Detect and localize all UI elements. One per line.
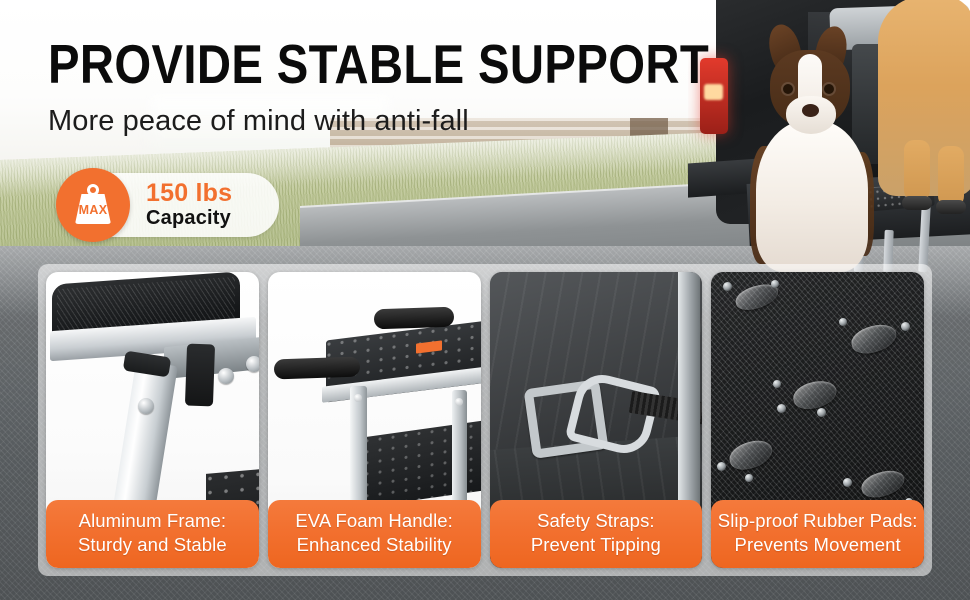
frame-rivet xyxy=(246,356,259,372)
panel-caption: EVA Foam Handle: Enhanced Stability xyxy=(268,500,481,568)
frame-rivet xyxy=(138,398,154,414)
caption-line-1: Slip-proof Rubber Pads: xyxy=(718,510,918,531)
caption-line-2: Prevent Tipping xyxy=(494,533,699,557)
caption-line-1: Safety Straps: xyxy=(537,510,655,531)
water-droplet xyxy=(849,321,900,357)
water-droplet xyxy=(859,467,907,501)
feature-panel-rubber-pads[interactable]: Slip-proof Rubber Pads: Prevents Movemen… xyxy=(711,272,924,568)
eva-foam-handle-front xyxy=(273,357,360,380)
page-subtitle: More peace of mind with anti-fall xyxy=(48,104,469,138)
panel-caption: Aluminum Frame: Sturdy and Stable xyxy=(46,500,259,568)
golden-retriever-leg xyxy=(938,146,964,208)
capacity-badge: MAX 150 lbs Capacity xyxy=(56,168,232,242)
capacity-label: Capacity xyxy=(146,206,232,230)
collie-eye-left xyxy=(783,84,793,94)
water-bead xyxy=(773,380,781,388)
capacity-value: 150 lbs xyxy=(146,180,232,206)
panel-caption: Slip-proof Rubber Pads: Prevents Movemen… xyxy=(711,500,924,568)
caption-line-2: Prevents Movement xyxy=(715,533,920,557)
product-feature-banner: PROVIDE STABLE SUPPORT More peace of min… xyxy=(0,0,970,600)
capacity-text-group: 150 lbs Capacity xyxy=(146,180,232,230)
water-bead xyxy=(777,404,786,413)
feature-panel-safety-straps[interactable]: Safety Straps: Prevent Tipping xyxy=(490,272,703,568)
weight-icon: MAX xyxy=(72,184,114,226)
water-droplet xyxy=(791,378,839,413)
water-bead xyxy=(723,282,732,291)
caption-line-1: EVA Foam Handle: xyxy=(295,510,453,531)
frame-rivet xyxy=(218,368,234,384)
golden-retriever-leg xyxy=(904,140,930,202)
water-bead xyxy=(839,318,847,326)
water-bead xyxy=(901,322,910,331)
feature-panel-aluminum-frame[interactable]: Aluminum Frame: Sturdy and Stable xyxy=(46,272,259,568)
caption-line-2: Enhanced Stability xyxy=(272,533,477,557)
golden-retriever-paw xyxy=(902,196,932,210)
water-bead xyxy=(745,474,753,482)
corner-rubber-cap xyxy=(185,344,215,407)
vehicle-dog-scene xyxy=(688,0,970,272)
post-screw xyxy=(455,398,463,406)
max-weight-icon-circle: MAX xyxy=(56,168,130,242)
border-collie xyxy=(754,24,884,272)
eva-foam-handle-rear xyxy=(373,307,454,330)
water-droplet xyxy=(727,436,776,473)
collie-nose xyxy=(802,104,819,117)
caption-line-2: Sturdy and Stable xyxy=(50,533,255,557)
feature-panel-row: Aluminum Frame: Sturdy and Stable xyxy=(46,272,924,568)
water-bead xyxy=(843,478,852,487)
page-title: PROVIDE STABLE SUPPORT xyxy=(48,36,709,92)
water-bead xyxy=(817,408,826,417)
caption-line-1: Aluminum Frame: xyxy=(79,510,226,531)
collie-chest xyxy=(756,120,868,272)
max-label: MAX xyxy=(72,203,114,217)
panel-caption: Safety Straps: Prevent Tipping xyxy=(490,500,703,568)
feature-panel-eva-handle[interactable]: EVA Foam Handle: Enhanced Stability xyxy=(268,272,481,568)
collie-eye-right xyxy=(824,84,834,94)
post-screw xyxy=(354,394,362,402)
water-bead xyxy=(771,280,779,288)
golden-retriever-paw xyxy=(936,200,966,214)
water-bead xyxy=(717,462,726,471)
